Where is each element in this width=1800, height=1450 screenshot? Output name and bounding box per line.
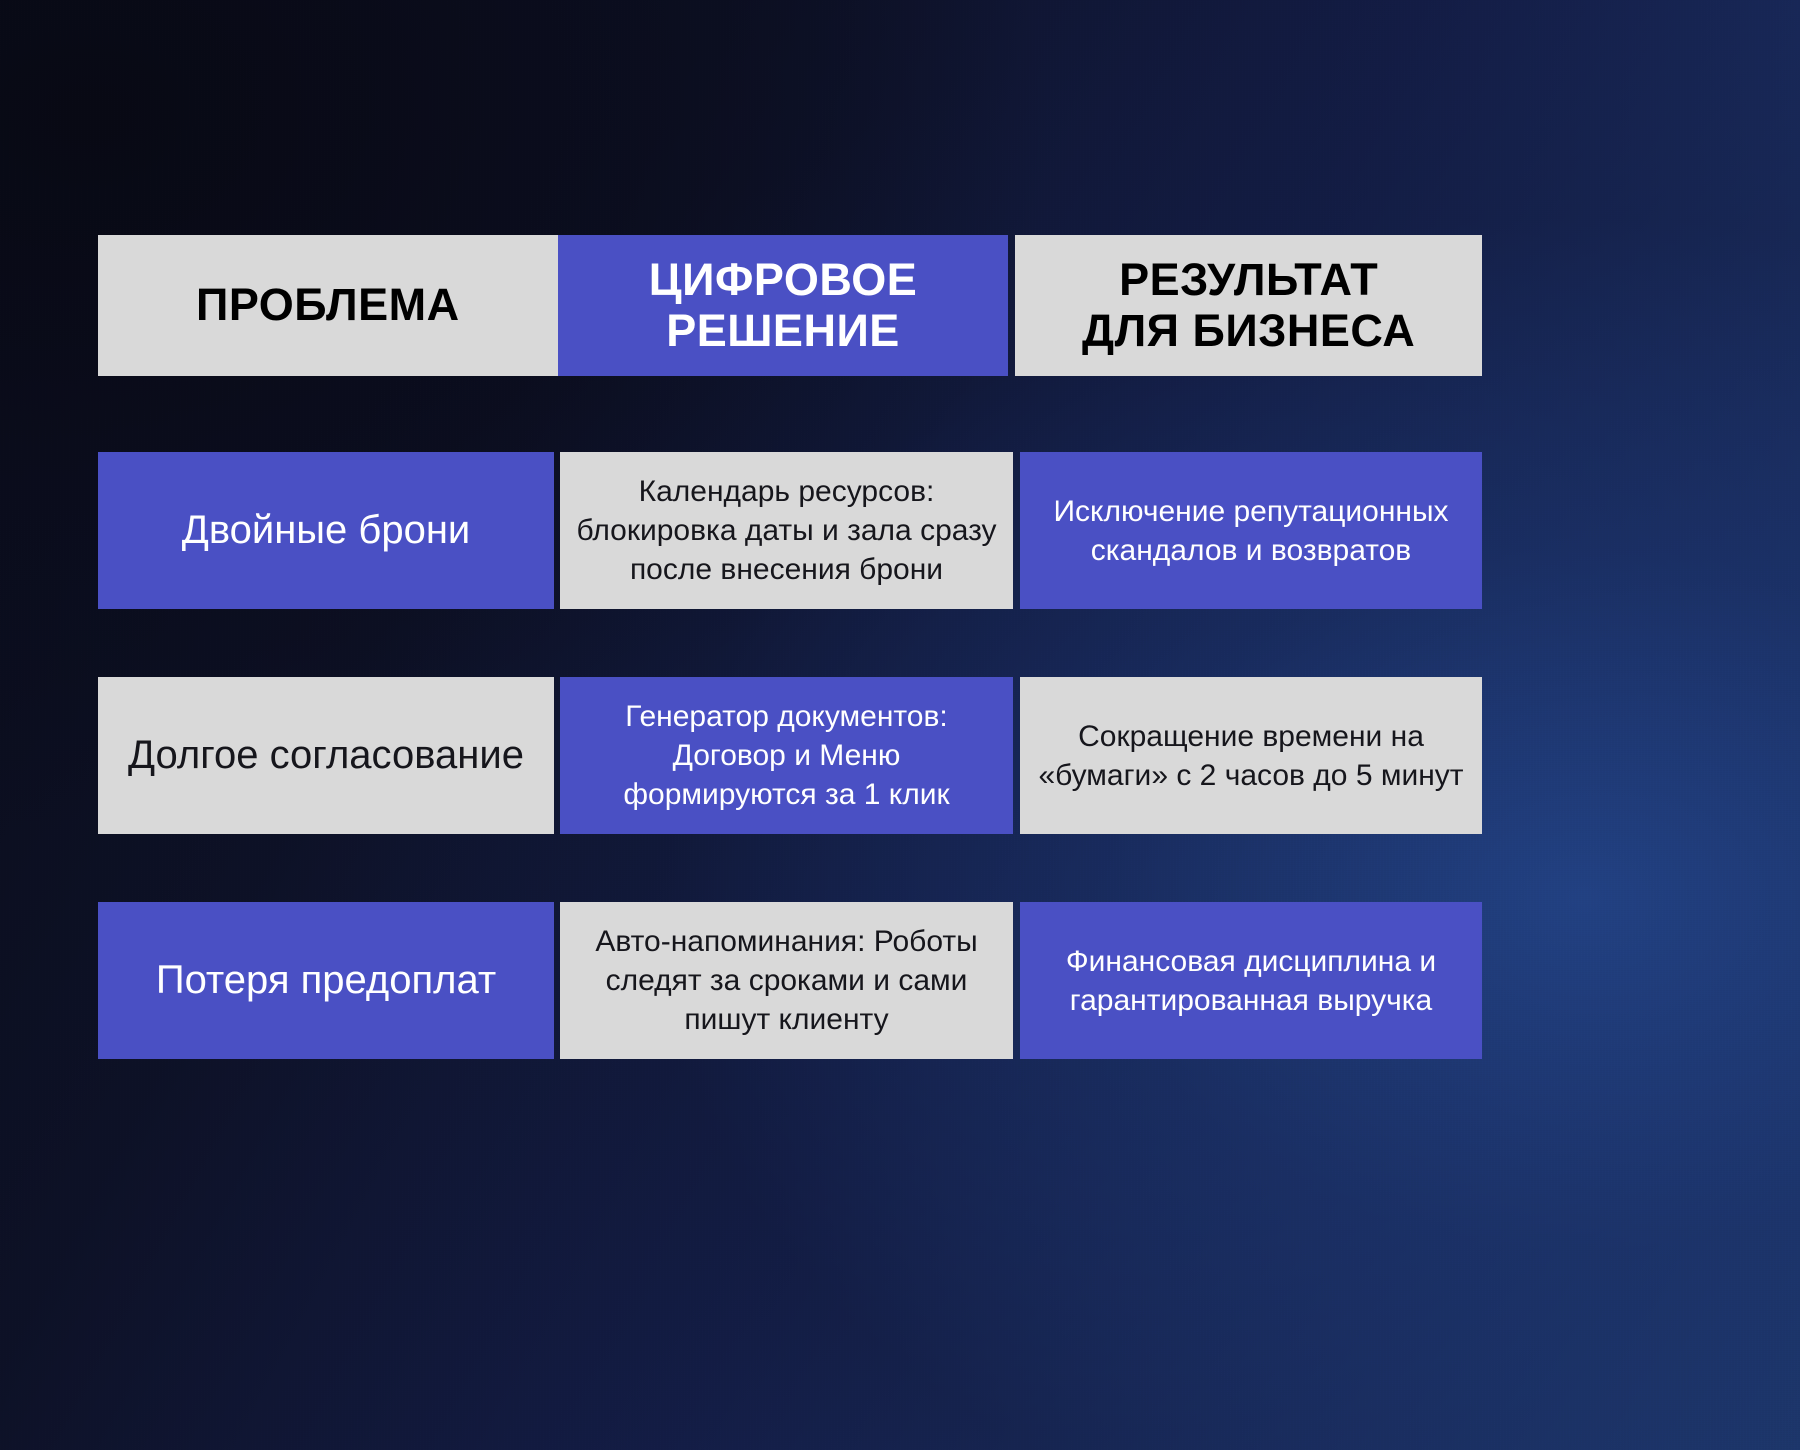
header-label-digital-solution-line1: ЦИФРОВОЕ: [649, 254, 917, 305]
cell-solution-2-text: Генератор документов: Договор и Меню фор…: [574, 697, 999, 814]
cell-result-2-text: Сокращение времени на «бумаги» с 2 часов…: [1034, 717, 1468, 795]
table-row: Долгое согласование Генератор документов…: [98, 677, 1482, 834]
row-spacer: [98, 609, 1482, 677]
header-label-business-result-line1: РЕЗУЛЬТАТ: [1119, 254, 1378, 305]
cell-result-3-text: Финансовая дисциплина и гарантированная …: [1034, 942, 1468, 1020]
cell-result-1: Исключение репутационных скандалов и воз…: [1020, 452, 1482, 609]
cell-result-2: Сокращение времени на «бумаги» с 2 часов…: [1020, 677, 1482, 834]
header-label-digital-solution: ЦИФРОВОЕ РЕШЕНИЕ: [649, 255, 917, 357]
cell-result-3: Финансовая дисциплина и гарантированная …: [1020, 902, 1482, 1059]
cell-problem-1: Двойные брони: [98, 452, 554, 609]
header-label-digital-solution-line2: РЕШЕНИЕ: [666, 305, 900, 356]
cell-solution-2: Генератор документов: Договор и Меню фор…: [560, 677, 1013, 834]
cell-result-1-text: Исключение репутационных скандалов и воз…: [1034, 492, 1468, 570]
header-label-business-result-line2: ДЛЯ БИЗНЕСА: [1082, 305, 1415, 356]
header-body-spacer: [98, 376, 1482, 452]
cell-problem-3: Потеря предоплат: [98, 902, 554, 1059]
table-header-row: ПРОБЛЕМА ЦИФРОВОЕ РЕШЕНИЕ РЕЗУЛЬТАТ ДЛЯ …: [98, 235, 1482, 376]
table-row: Двойные брони Календарь ресурсов: блокир…: [98, 452, 1482, 609]
cell-solution-3-text: Авто-напоминания: Роботы следят за срока…: [574, 922, 999, 1039]
comparison-table: ПРОБЛЕМА ЦИФРОВОЕ РЕШЕНИЕ РЕЗУЛЬТАТ ДЛЯ …: [98, 235, 1482, 1059]
cell-problem-1-text: Двойные брони: [182, 507, 471, 554]
header-label-problem: ПРОБЛЕМА: [196, 280, 460, 331]
table-row: Потеря предоплат Авто-напоминания: Робот…: [98, 902, 1482, 1059]
header-cell-digital-solution: ЦИФРОВОЕ РЕШЕНИЕ: [558, 235, 1009, 376]
cell-problem-2: Долгое согласование: [98, 677, 554, 834]
row-spacer: [98, 834, 1482, 902]
header-cell-business-result: РЕЗУЛЬТАТ ДЛЯ БИЗНЕСА: [1015, 235, 1482, 376]
cell-solution-1-text: Календарь ресурсов: блокировка даты и за…: [574, 472, 999, 589]
cell-solution-3: Авто-напоминания: Роботы следят за срока…: [560, 902, 1013, 1059]
cell-problem-3-text: Потеря предоплат: [156, 957, 496, 1004]
header-label-business-result: РЕЗУЛЬТАТ ДЛЯ БИЗНЕСА: [1082, 255, 1415, 357]
cell-problem-2-text: Долгое согласование: [128, 732, 524, 779]
cell-solution-1: Календарь ресурсов: блокировка даты и за…: [560, 452, 1013, 609]
header-cell-problem: ПРОБЛЕМА: [98, 235, 558, 376]
slide-canvas: ПРОБЛЕМА ЦИФРОВОЕ РЕШЕНИЕ РЕЗУЛЬТАТ ДЛЯ …: [0, 0, 1800, 1450]
